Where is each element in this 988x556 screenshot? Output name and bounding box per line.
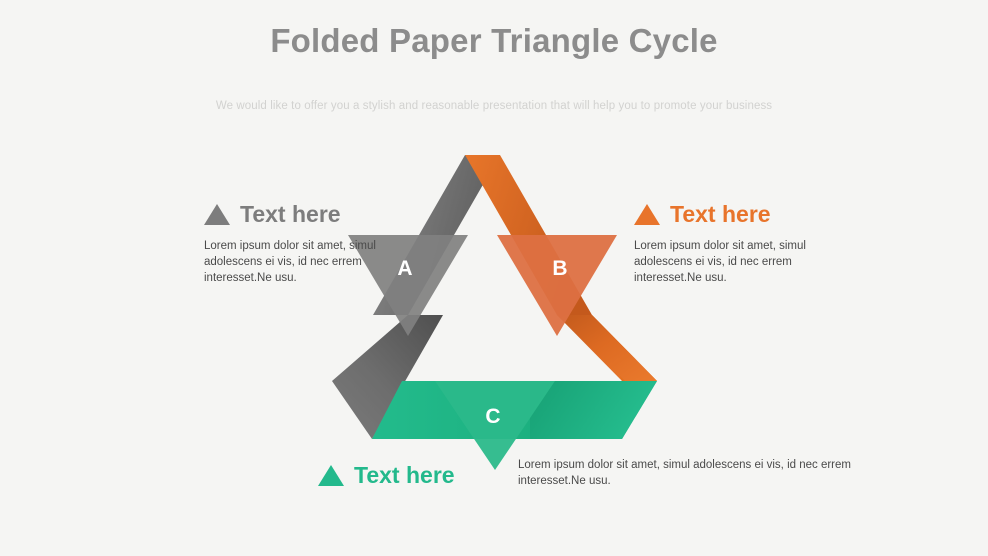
legend-c-title: Text here [354, 464, 455, 487]
page-subtitle: We would like to offer you a stylish and… [0, 100, 988, 112]
legend-item-b[interactable]: Text here Lorem ipsum dolor sit amet, si… [634, 203, 844, 287]
legend-b-header: Text here [634, 203, 844, 226]
legend-b-body: Lorem ipsum dolor sit amet, simul adoles… [634, 239, 844, 287]
legend-a-title: Text here [240, 203, 341, 226]
facet-b[interactable] [497, 235, 617, 336]
page-title: Folded Paper Triangle Cycle [0, 22, 988, 60]
triangle-up-icon [318, 465, 344, 486]
triangle-up-icon [204, 204, 230, 225]
legend-a-body: Lorem ipsum dolor sit amet, simul adoles… [204, 239, 404, 287]
legend-b-title: Text here [670, 203, 771, 226]
legend-item-a[interactable]: Text here Lorem ipsum dolor sit amet, si… [204, 203, 404, 287]
band-c[interactable]: C [372, 381, 657, 470]
legend-c-header: Text here [318, 464, 455, 487]
triangle-up-icon [634, 204, 660, 225]
triangle-cycle-diagram: A B C [300, 140, 700, 485]
node-label-c: C [485, 405, 500, 428]
slide: Folded Paper Triangle Cycle We would lik… [0, 0, 988, 556]
legend-c-body: Lorem ipsum dolor sit amet, simul adoles… [518, 458, 858, 490]
legend-a-header: Text here [204, 203, 404, 226]
band-b[interactable]: B [465, 155, 657, 381]
node-label-b: B [552, 257, 567, 280]
